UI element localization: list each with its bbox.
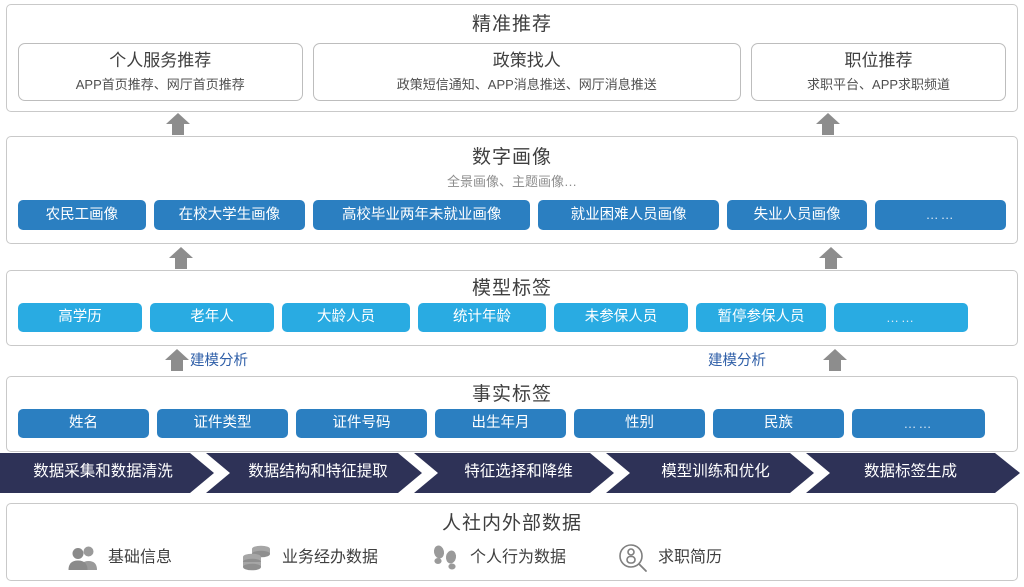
footprints-icon — [429, 542, 461, 574]
portrait-tag-migrant-worker[interactable]: 农民工画像 — [18, 200, 146, 230]
fact-tag-gender[interactable]: 性别 — [574, 409, 705, 438]
data-source-label: 个人行为数据 — [470, 550, 566, 566]
section-title-precise: 精准推荐 — [7, 15, 1017, 34]
precise-card-desc: 政策短信通知、APP消息推送、网厅消息推送 — [322, 77, 733, 93]
fact-tag-list: 姓名 证件类型 证件号码 出生年月 性别 民族 …… — [18, 409, 1006, 438]
model-tag-list: 高学历 老年人 大龄人员 统计年龄 未参保人员 暂停参保人员 …… — [18, 303, 1006, 332]
fact-tag-id-number[interactable]: 证件号码 — [296, 409, 427, 438]
portrait-tag-more[interactable]: …… — [875, 200, 1006, 230]
model-tag-statistical-age[interactable]: 统计年龄 — [418, 303, 546, 332]
portrait-tag-list: 农民工画像 在校大学生画像 高校毕业两年未就业画像 就业困难人员画像 失业人员画… — [18, 200, 1006, 230]
section-digital-portrait: 数字画像 全景画像、主题画像… 农民工画像 在校大学生画像 高校毕业两年未就业画… — [6, 136, 1018, 244]
annotation-modeling-analysis-right: 建模分析 — [708, 354, 766, 369]
fact-tag-birth-date[interactable]: 出生年月 — [435, 409, 566, 438]
up-arrow-icon — [815, 112, 841, 136]
up-arrow-icon — [164, 348, 190, 372]
data-source-behavior-data[interactable]: 个人行为数据 — [429, 542, 617, 574]
data-source-list: 基础信息 业务经办数据 — [67, 542, 987, 574]
users-icon — [67, 542, 99, 574]
precise-card-title: 政策找人 — [322, 50, 733, 71]
precise-card-list: 个人服务推荐 APP首页推荐、网厅首页推荐 政策找人 政策短信通知、APP消息推… — [18, 43, 1006, 101]
person-search-icon — [617, 542, 649, 574]
precise-card-desc: 求职平台、APP求职频道 — [760, 77, 997, 93]
portrait-tag-unemployed-graduate[interactable]: 高校毕业两年未就业画像 — [313, 200, 531, 230]
up-arrow-icon — [822, 348, 848, 372]
data-source-label: 基础信息 — [108, 550, 172, 566]
portrait-tag-college-student[interactable]: 在校大学生画像 — [154, 200, 305, 230]
fact-tag-name[interactable]: 姓名 — [18, 409, 149, 438]
model-tag-high-education[interactable]: 高学历 — [18, 303, 142, 332]
model-tag-suspended-insurance[interactable]: 暂停参保人员 — [696, 303, 826, 332]
coins-stack-icon — [241, 542, 273, 574]
precise-card-policy-matching[interactable]: 政策找人 政策短信通知、APP消息推送、网厅消息推送 — [313, 43, 742, 101]
section-data-sources: 人社内外部数据 基础信息 — [6, 503, 1018, 581]
fact-tag-ethnicity[interactable]: 民族 — [713, 409, 844, 438]
up-arrow-icon — [818, 246, 844, 270]
data-source-label: 求职简历 — [658, 550, 722, 566]
section-title-data-sources: 人社内外部数据 — [7, 514, 1017, 533]
portrait-tag-employment-difficulty[interactable]: 就业困难人员画像 — [538, 200, 718, 230]
data-source-label: 业务经办数据 — [282, 550, 378, 566]
up-arrow-icon — [165, 112, 191, 136]
data-source-resume[interactable]: 求职简历 — [617, 542, 722, 574]
data-source-basic-info[interactable]: 基础信息 — [67, 542, 241, 574]
portrait-tag-unemployed-person[interactable]: 失业人员画像 — [727, 200, 867, 230]
precise-card-title: 职位推荐 — [760, 50, 997, 71]
pipeline-step-4[interactable]: 模型训练和优化 — [628, 464, 803, 480]
data-source-business-data[interactable]: 业务经办数据 — [241, 542, 429, 574]
pipeline-step-1[interactable]: 数据采集和数据清洗 — [8, 464, 198, 480]
model-tag-uninsured[interactable]: 未参保人员 — [554, 303, 688, 332]
pipeline-step-2[interactable]: 数据结构和特征提取 — [228, 464, 408, 480]
section-title-fact: 事实标签 — [7, 385, 1017, 404]
model-tag-elderly[interactable]: 老年人 — [150, 303, 274, 332]
annotation-modeling-analysis-left: 建模分析 — [190, 354, 248, 369]
diagram-canvas: 精准推荐 个人服务推荐 APP首页推荐、网厅首页推荐 政策找人 政策短信通知、A… — [0, 0, 1024, 587]
precise-card-title: 个人服务推荐 — [27, 50, 294, 71]
section-title-model: 模型标签 — [7, 279, 1017, 298]
fact-tag-more[interactable]: …… — [852, 409, 985, 438]
pipeline-step-5[interactable]: 数据标签生成 — [828, 464, 993, 480]
section-fact-tags: 事实标签 姓名 证件类型 证件号码 出生年月 性别 民族 …… — [6, 376, 1018, 452]
fact-tag-id-type[interactable]: 证件类型 — [157, 409, 288, 438]
up-arrow-icon — [168, 246, 194, 270]
process-pipeline: 数据采集和数据清洗 数据结构和特征提取 特征选择和降维 模型训练和优化 数据标签… — [0, 453, 1024, 493]
precise-card-personal-service[interactable]: 个人服务推荐 APP首页推荐、网厅首页推荐 — [18, 43, 303, 101]
section-subtitle-portrait: 全景画像、主题画像… — [7, 175, 1017, 188]
precise-card-desc: APP首页推荐、网厅首页推荐 — [27, 77, 294, 93]
precise-card-job-recommendation[interactable]: 职位推荐 求职平台、APP求职频道 — [751, 43, 1006, 101]
model-tag-older-worker[interactable]: 大龄人员 — [282, 303, 410, 332]
section-model-tags: 模型标签 高学历 老年人 大龄人员 统计年龄 未参保人员 暂停参保人员 …… — [6, 270, 1018, 346]
section-precise-recommendation: 精准推荐 个人服务推荐 APP首页推荐、网厅首页推荐 政策找人 政策短信通知、A… — [6, 4, 1018, 112]
model-tag-more[interactable]: …… — [834, 303, 968, 332]
pipeline-step-3[interactable]: 特征选择和降维 — [436, 464, 601, 480]
section-title-portrait: 数字画像 — [7, 148, 1017, 167]
